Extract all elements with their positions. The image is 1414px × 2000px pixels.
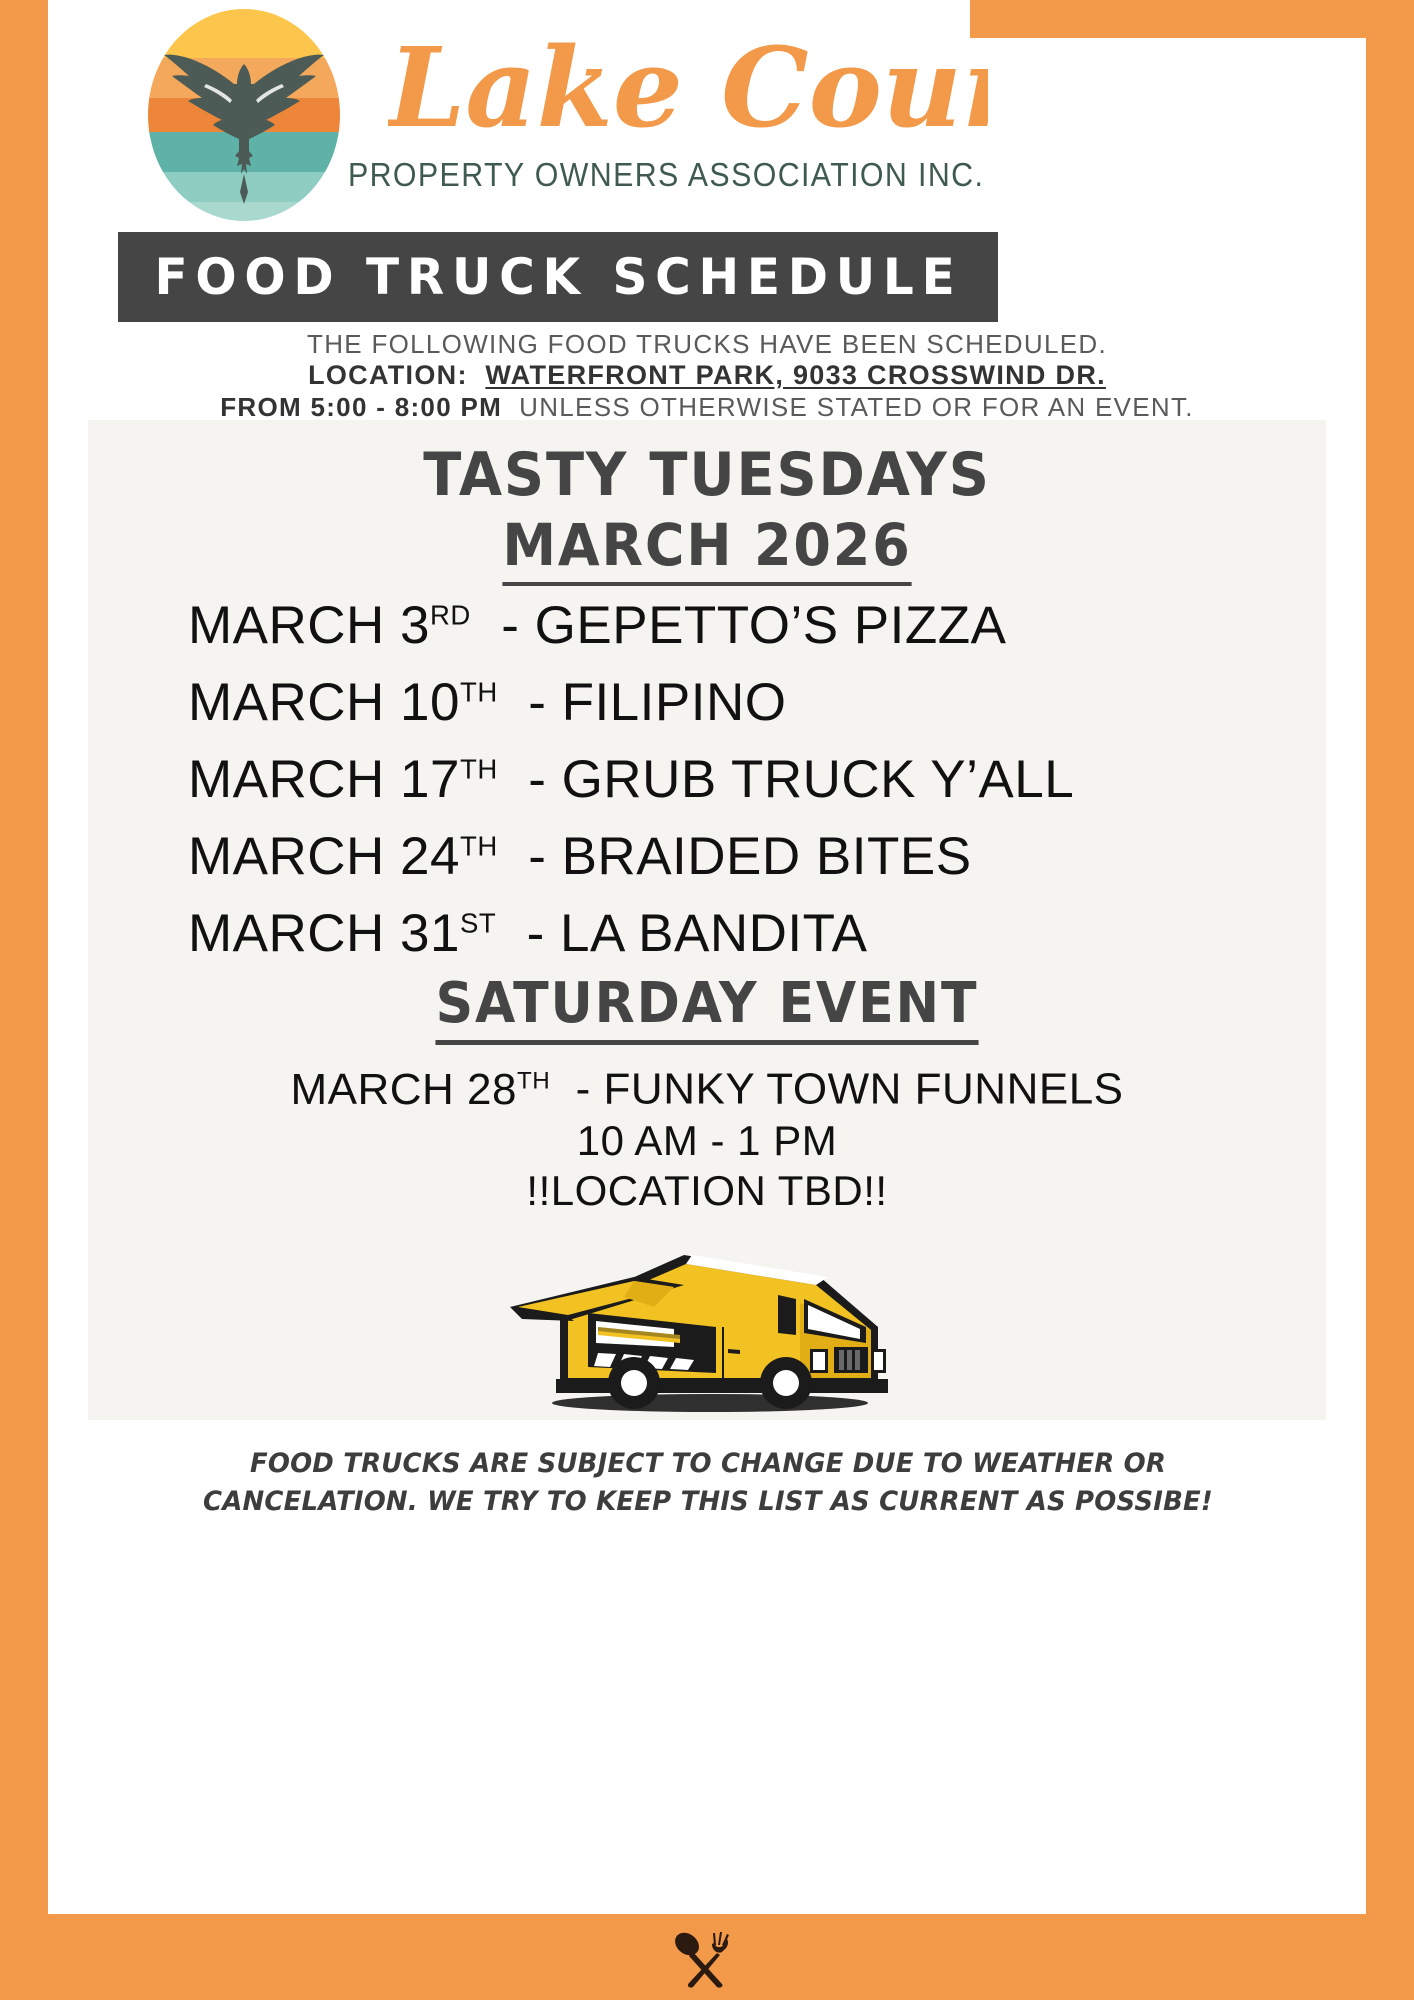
svg-text:Lake Country: Lake Country <box>388 23 988 152</box>
schedule-entry-dash: - <box>471 595 535 656</box>
saturday-event-date: MARCH 28TH <box>290 1065 550 1114</box>
schedule-entry-vendor: GEPETTO’S PIZZA <box>535 595 1007 656</box>
saturday-event-location: !!LOCATION TBD!! <box>88 1166 1326 1216</box>
schedule-panel: TASTY TUESDAYS MARCH 2026 MARCH 3RD - GE… <box>88 420 1326 1420</box>
hours-note: UNLESS OTHERWISE STATED OR FOR AN EVENT. <box>519 392 1194 422</box>
schedule-entry-dash: - <box>498 749 562 810</box>
saturday-event-line: MARCH 28TH - FUNKY TOWN FUNNELS <box>88 1055 1326 1116</box>
subtitle-line-1: THE FOLLOWING FOOD TRUCKS HAVE BEEN SCHE… <box>48 330 1366 359</box>
location-label: LOCATION: <box>308 360 468 390</box>
schedule-entry: MARCH 17TH - GRUB TRUCK Y’ALL <box>188 749 1268 826</box>
schedule-entry: MARCH 10TH - FILIPINO <box>188 672 1268 749</box>
flyer-title-bar: FOOD TRUCK SCHEDULE <box>118 232 998 322</box>
schedule-entry: MARCH 24TH - BRAIDED BITES <box>188 826 1268 903</box>
schedule-entry-dash: - <box>496 903 560 964</box>
hours-label: FROM 5:00 - 8:00 PM <box>220 392 502 422</box>
schedule-entry-date: MARCH 24TH <box>188 826 498 887</box>
schedule-month-text: MARCH 2026 <box>502 511 911 586</box>
subtitle-line-3: FROM 5:00 - 8:00 PM UNLESS OTHERWISE STA… <box>48 392 1366 423</box>
schedule-entry-vendor: GRUB TRUCK Y’ALL <box>562 749 1075 810</box>
saturday-event-heading: SATURDAY EVENT <box>131 975 1282 1033</box>
lake-country-wordmark: Lake Country <box>388 18 988 168</box>
schedule-entry-ordinal: TH <box>460 676 498 707</box>
saturday-event-ordinal: TH <box>517 1067 550 1094</box>
schedule-entry-vendor: FILIPINO <box>562 672 787 733</box>
schedule-entry-date: MARCH 31ST <box>188 903 496 964</box>
schedule-entry-ordinal: ST <box>460 907 496 938</box>
saturday-event-time: 10 AM - 1 PM <box>88 1116 1326 1166</box>
schedule-heading: TASTY TUESDAYS <box>131 444 1282 506</box>
logo: Lake Country PROPERTY OWNERS ASSOCIATION… <box>48 6 1366 228</box>
schedule-entry-ordinal: RD <box>430 599 471 630</box>
saturday-event-details: MARCH 28TH - FUNKY TOWN FUNNELS 10 AM - … <box>88 1055 1326 1216</box>
lake-country-emblem-icon <box>144 6 344 224</box>
schedule-entry-vendor: LA BANDITA <box>560 903 867 964</box>
disclaimer-line-2: CANCELATION. WE TRY TO KEEP THIS LIST AS… <box>180 1483 1236 1521</box>
schedule-entry-date: MARCH 17TH <box>188 749 498 810</box>
saturday-event-vendor: FUNKY TOWN FUNNELS <box>604 1065 1124 1114</box>
food-truck-illustration <box>448 1215 968 1415</box>
schedule-entry-vendor: BRAIDED BITES <box>562 826 972 887</box>
schedule-entry-date: MARCH 10TH <box>188 672 498 733</box>
disclaimer: FOOD TRUCKS ARE SUBJECT TO CHANGE DUE TO… <box>180 1445 1236 1521</box>
schedule-entry-dash: - <box>498 826 562 887</box>
schedule-entry: MARCH 3RD - GEPETTO’S PIZZA <box>188 595 1268 672</box>
subtitle-line-2: LOCATION: WATERFRONT PARK, 9033 CROSSWIN… <box>48 359 1366 392</box>
flyer-page: Lake Country PROPERTY OWNERS ASSOCIATION… <box>48 0 1366 1914</box>
saturday-event-heading-text: SATURDAY EVENT <box>436 971 979 1045</box>
schedule-entry-ordinal: TH <box>460 753 498 784</box>
spoon-fork-crossed-icon <box>660 1926 750 1990</box>
page-title: FOOD TRUCK SCHEDULE <box>154 248 962 306</box>
schedule-entry-ordinal: TH <box>460 830 498 861</box>
schedule-entry-dash: - <box>498 672 562 733</box>
schedule-entry: MARCH 31ST - LA BANDITA <box>188 903 1268 980</box>
saturday-event-dash: - <box>550 1065 603 1114</box>
subtitle-block: THE FOLLOWING FOOD TRUCKS HAVE BEEN SCHE… <box>48 330 1366 423</box>
logo-subtitle: PROPERTY OWNERS ASSOCIATION INC. <box>348 156 1213 194</box>
schedule-entry-date: MARCH 3RD <box>188 595 471 656</box>
disclaimer-line-1: FOOD TRUCKS ARE SUBJECT TO CHANGE DUE TO… <box>180 1445 1236 1483</box>
schedule-month: MARCH 2026 <box>131 515 1282 575</box>
location-value: WATERFRONT PARK, 9033 CROSSWIND DR. <box>485 360 1106 390</box>
